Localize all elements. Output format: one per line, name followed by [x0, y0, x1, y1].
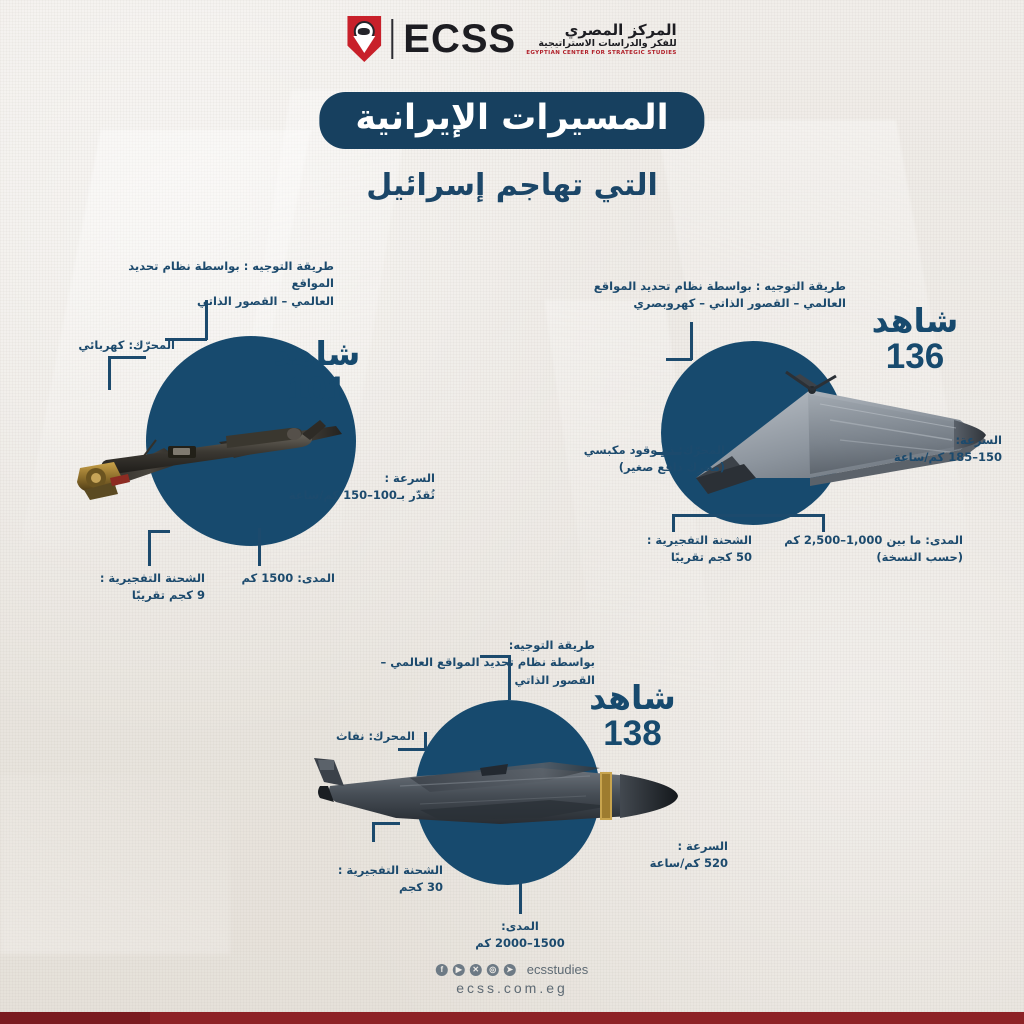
shahed-136-bracket-right — [822, 514, 825, 532]
shahed-138-speed: السرعة : 520 كم/ساعة — [598, 838, 728, 873]
page-title: المسيرات الإيرانية — [319, 92, 704, 149]
shahed-136-name-ar: شاهد — [862, 303, 969, 341]
shahed-138-guidance-leader-h — [480, 655, 510, 658]
shahed-138-number: 138 — [560, 716, 705, 753]
bottom-accent-bar-left — [0, 1012, 150, 1024]
shahed-138-range-leader-v — [519, 880, 522, 914]
social-links[interactable]: f ▶ ✕ ◎ ➤ ecsstudies — [436, 962, 588, 977]
footer: f ▶ ✕ ◎ ➤ ecsstudies ecss.com.eg — [436, 962, 588, 996]
shahed-136-bracket-left — [672, 514, 675, 532]
shahed-101-name-ar: شاهد — [264, 336, 371, 374]
shahed-138-warhead-leader-v — [372, 822, 375, 842]
shahed-138-range: المدى: 1500–2000 كم — [455, 918, 585, 953]
logo-arabic-block: المركز المصري للفكر والدراسات الاستراتيج… — [526, 22, 676, 56]
shahed-101-engine-leader-v — [108, 356, 111, 390]
logo-arabic-sub: للفكر والدراسات الاستراتيجية — [526, 39, 676, 50]
shahed-101-guidance: طريقة التوجيه : بواسطة نظام تحديد المواق… — [84, 258, 334, 310]
bottom-accent-bar — [0, 1012, 1024, 1024]
shahed-101-guidance-leader-v — [205, 300, 208, 340]
shahed-138-engine-leader-v — [424, 732, 427, 750]
shahed-136-range: المدى: ما بين 1,000–2,500 كم (حسب النسخة… — [778, 532, 963, 567]
shahed-138-warhead: الشحنة التفجيرية : 30 كجم — [318, 862, 443, 897]
shahed-138-engine-leader-h — [398, 748, 426, 751]
shahed-136-guidance-leader-v — [690, 322, 693, 360]
page-subtitle: التي تهاجم إسرائيل — [366, 168, 658, 203]
logo-divider — [391, 19, 393, 59]
shahed-138-warhead-leader-h — [372, 822, 400, 825]
shahed-101-number: 101 — [252, 372, 382, 409]
shahed-101-warhead-leader-v — [148, 530, 151, 566]
shahed-136-guidance: طريقة التوجيه : بواسطة نظام تحديد المواق… — [588, 278, 846, 313]
infographic-canvas: ECSS المركز المصري للفكر والدراسات الاست… — [0, 0, 1024, 1024]
shield-globe-logo-icon — [347, 16, 381, 62]
ecss-logo: ECSS المركز المصري للفكر والدراسات الاست… — [347, 16, 676, 62]
shahed-101-range: المدى: 1500 كم — [215, 570, 335, 587]
shahed-136-guidance-leader-h — [666, 358, 692, 361]
social-handle: ecsstudies — [527, 962, 588, 977]
logo-english-sub: EGYPTIAN CENTER FOR STRATEGIC STUDIES — [526, 50, 676, 56]
logo-arabic-name: المركز المصري — [526, 22, 676, 39]
telegram-icon[interactable]: ➤ — [504, 964, 516, 976]
shahed-136-engine-leader-h — [655, 452, 681, 455]
shahed-136-label: شاهد 136 — [845, 303, 985, 375]
shahed-101-engine-leader-h — [108, 356, 146, 359]
logo-acronym: ECSS — [403, 19, 516, 59]
shahed-138-guidance-leader-v — [508, 655, 511, 700]
shahed-136-speed: السرعة: 150–185 كم/ساعة — [862, 432, 1002, 467]
shahed-136-warhead: الشحنة التفجيرية : 50 كجم تقريبًا — [622, 532, 752, 567]
shahed-138-engine: المحرك: نفاث — [290, 728, 415, 745]
shahed-136-number: 136 — [845, 339, 985, 376]
x-icon[interactable]: ✕ — [470, 964, 482, 976]
shahed-138-guidance: طريقة التوجيه: بواسطة نظام تحديد المواقع… — [325, 637, 595, 689]
shahed-101-warhead: الشحنة التفجيرية : 9 كجم تقريبًا — [80, 570, 205, 605]
youtube-icon[interactable]: ▶ — [453, 964, 465, 976]
shahed-101-speed: السرعة : تُقدّر بـ100–150 كم/ساعة — [280, 470, 435, 505]
shahed-101-warhead-leader-h — [148, 530, 170, 533]
shahed-136-bracket-top — [672, 514, 824, 517]
facebook-icon[interactable]: f — [436, 964, 448, 976]
shahed-138-label: شاهد 138 — [560, 680, 705, 752]
shahed-136-engine: المحرّك: ذو وقود مكبسي (محرك دافع صغير) — [560, 442, 725, 477]
shahed-138-name-ar: شاهد — [579, 680, 686, 718]
shahed-138-drone-image — [300, 742, 700, 852]
shahed-101-label: شاهد 101 — [252, 336, 382, 408]
shahed-101-range-leader-v — [258, 528, 261, 566]
background-watermark-5 — [0, 774, 230, 954]
shahed-101-engine: المحرّك: كهربائي — [55, 337, 175, 354]
instagram-icon[interactable]: ◎ — [487, 964, 499, 976]
website-url[interactable]: ecss.com.eg — [436, 980, 588, 996]
